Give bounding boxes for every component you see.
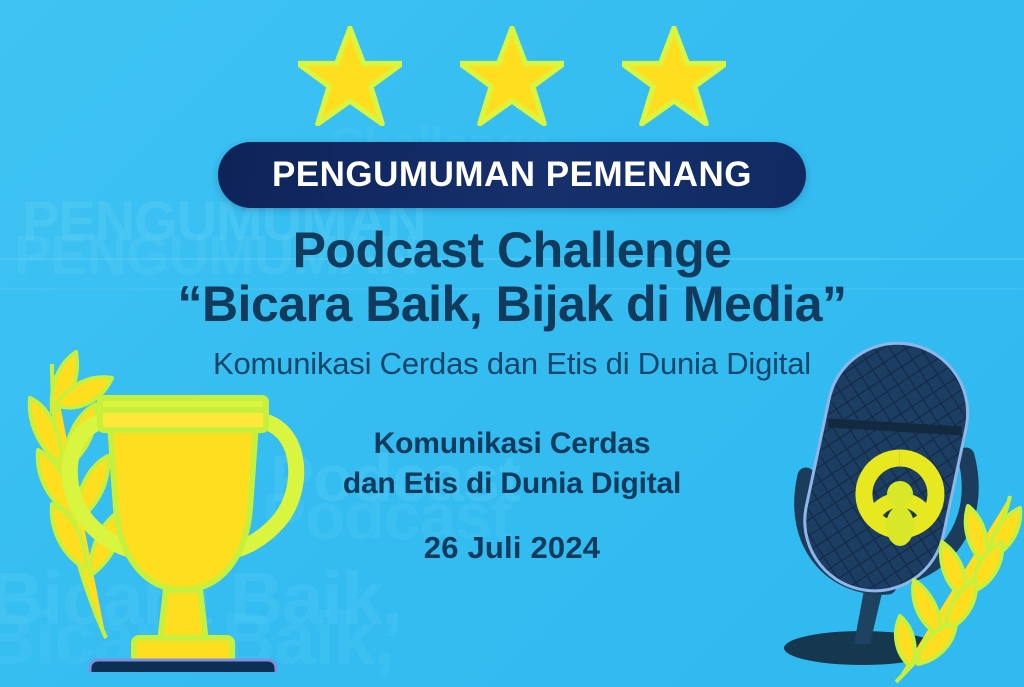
announcement-banner: PENGUMUMAN PEMENANG — [218, 142, 806, 208]
laurel-branch-icon — [892, 492, 1024, 687]
page-title-line-2: “Bicara Baik, Bijak di Media” — [0, 276, 1024, 332]
star-icon — [622, 26, 726, 126]
trophy-icon — [28, 352, 338, 672]
page-title-line-1: Podcast Challenge — [0, 222, 1024, 278]
announcement-banner-label: PENGUMUMAN PEMENANG — [272, 155, 752, 195]
star-rating-decoration — [0, 26, 1024, 126]
winner-announcement-poster: Challenge PENGUMUMAN PENGUMUMAN Podcast … — [0, 0, 1024, 687]
star-icon — [460, 26, 564, 126]
star-icon — [298, 26, 402, 126]
